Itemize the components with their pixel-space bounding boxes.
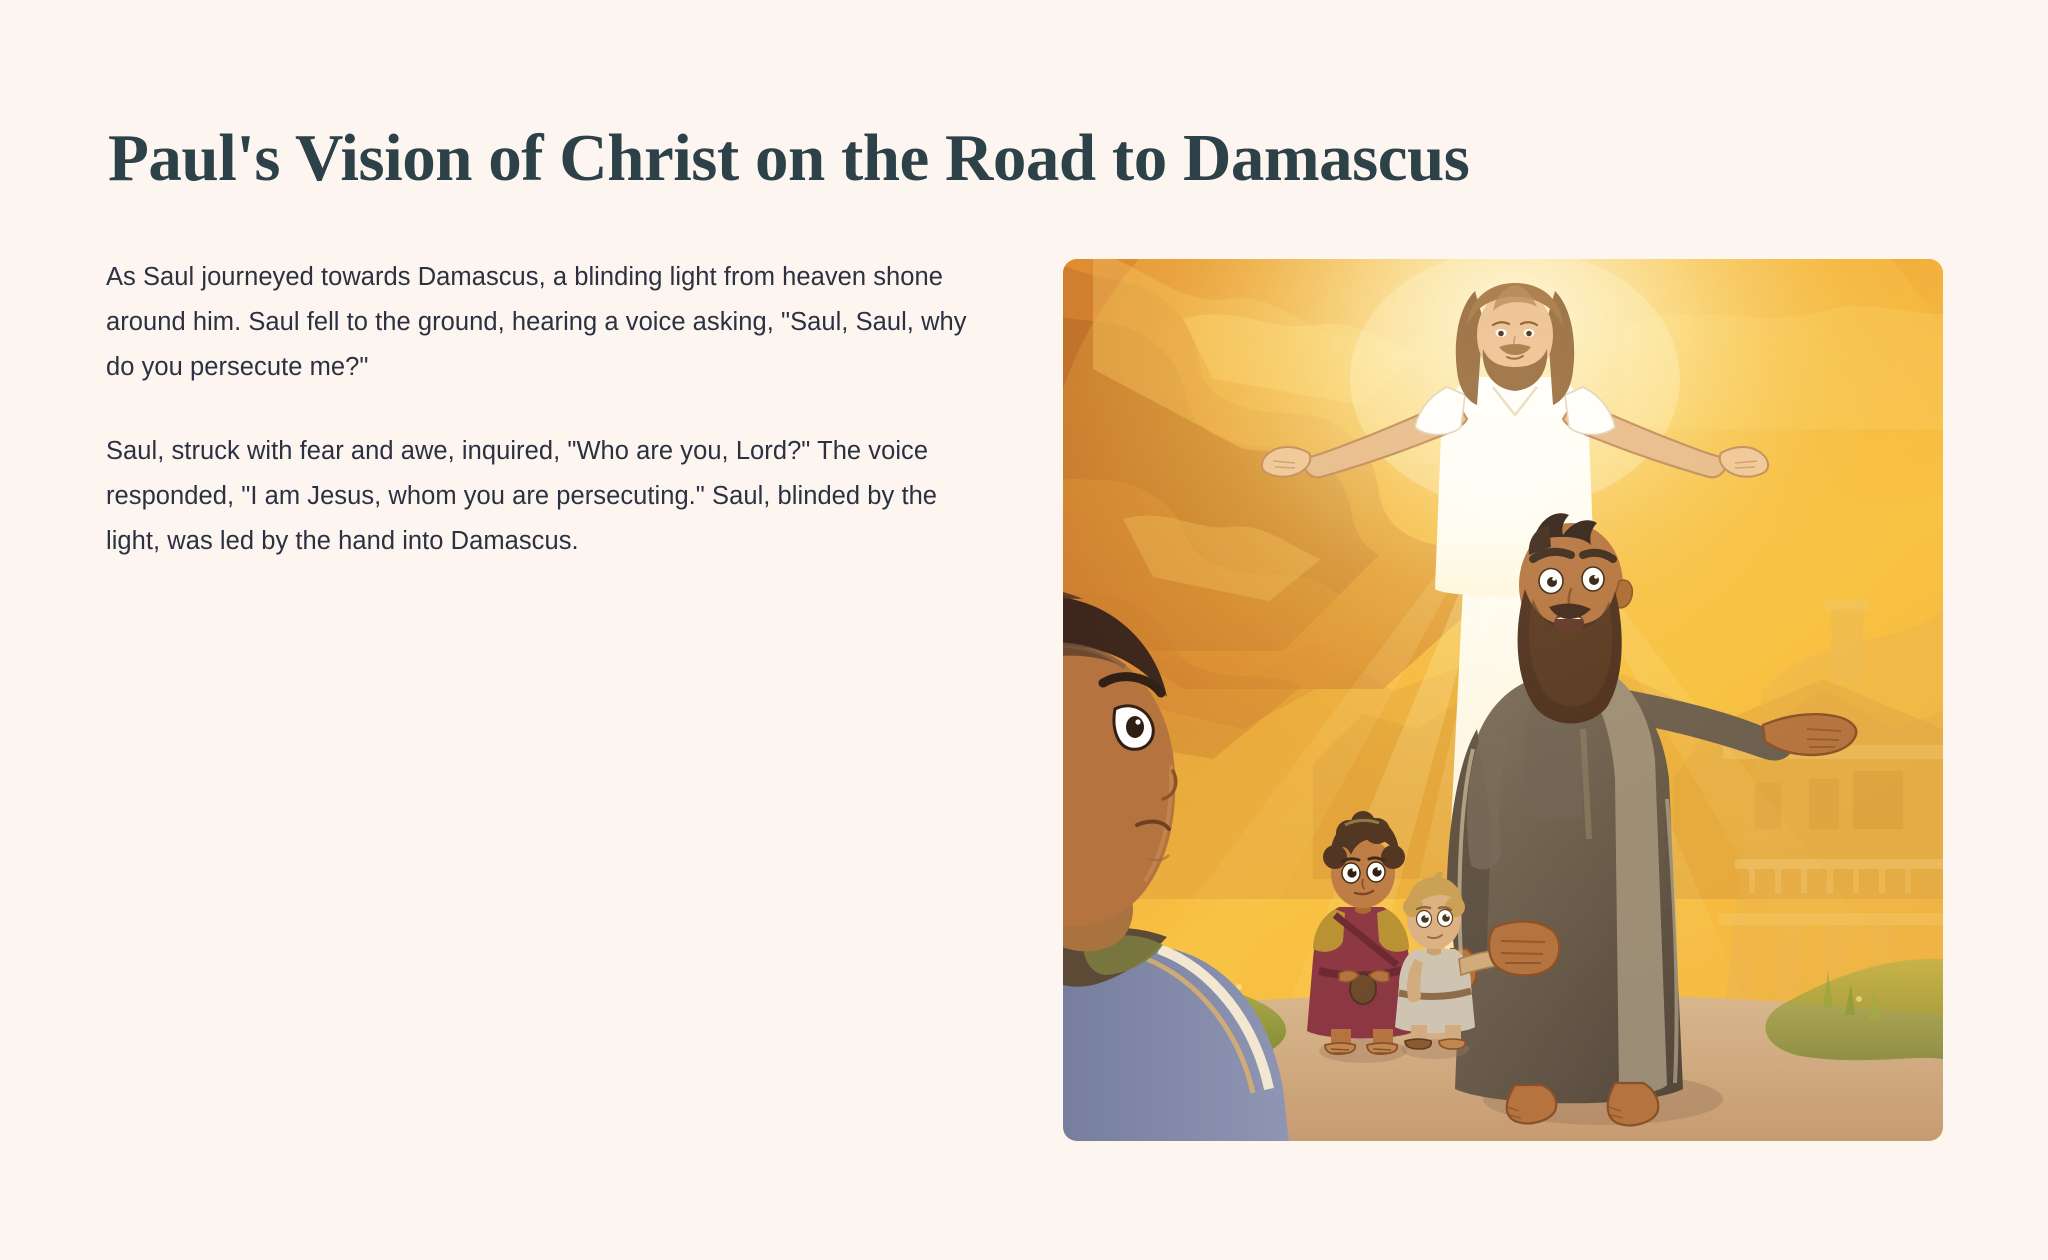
story-paragraph-2: Saul, struck with fear and awe, inquired… — [106, 429, 996, 564]
illustration-artwork — [1063, 259, 1943, 1141]
page-title: Paul's Vision of Christ on the Road to D… — [108, 123, 1469, 193]
story-text-column: As Saul journeyed towards Damascus, a bl… — [106, 255, 996, 564]
story-paragraph-1: As Saul journeyed towards Damascus, a bl… — [106, 255, 996, 390]
story-page: Paul's Vision of Christ on the Road to D… — [0, 0, 2048, 1260]
scene-vignette — [1063, 259, 1943, 1141]
story-illustration — [1063, 259, 1943, 1141]
